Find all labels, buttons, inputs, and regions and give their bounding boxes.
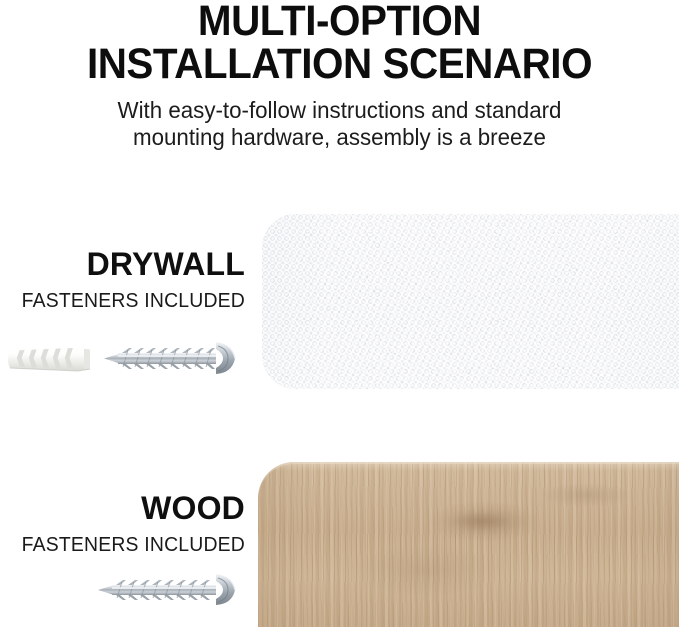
wood-surface-swatch	[258, 462, 679, 627]
wood-label-group: WOOD FASTENERS INCLUDED	[0, 492, 245, 555]
page-title-line-1: MULTI-OPTION	[20, 2, 658, 42]
wood-subheading: FASTENERS INCLUDED	[7, 535, 245, 555]
screw-icon	[98, 575, 235, 605]
drywall-hardware-illustration	[4, 330, 246, 388]
wood-heading: WOOD	[0, 492, 245, 524]
wall-anchor-icon	[8, 347, 90, 371]
drywall-surface-shading	[262, 214, 679, 389]
drywall-heading: DRYWALL	[0, 248, 245, 280]
drywall-subheading: FASTENERS INCLUDED	[7, 291, 245, 311]
page-title-line-2: INSTALLATION SCENARIO	[20, 45, 658, 85]
drywall-label-group: DRYWALL FASTENERS INCLUDED	[0, 248, 245, 311]
drywall-surface-swatch	[262, 214, 679, 389]
page-subtitle-line-1: With easy-to-follow instructions and sta…	[10, 97, 669, 124]
page-subtitle-line-2: mounting hardware, assembly is a breeze	[10, 124, 669, 151]
wood-hardware-illustration	[96, 568, 246, 612]
screw-icon	[104, 343, 235, 374]
page-subtitle: With easy-to-follow instructions and sta…	[10, 97, 669, 151]
wood-surface-shading	[258, 462, 679, 627]
header: MULTI-OPTION INSTALLATION SCENARIO With …	[0, 0, 679, 151]
infographic-canvas: MULTI-OPTION INSTALLATION SCENARIO With …	[0, 0, 679, 627]
